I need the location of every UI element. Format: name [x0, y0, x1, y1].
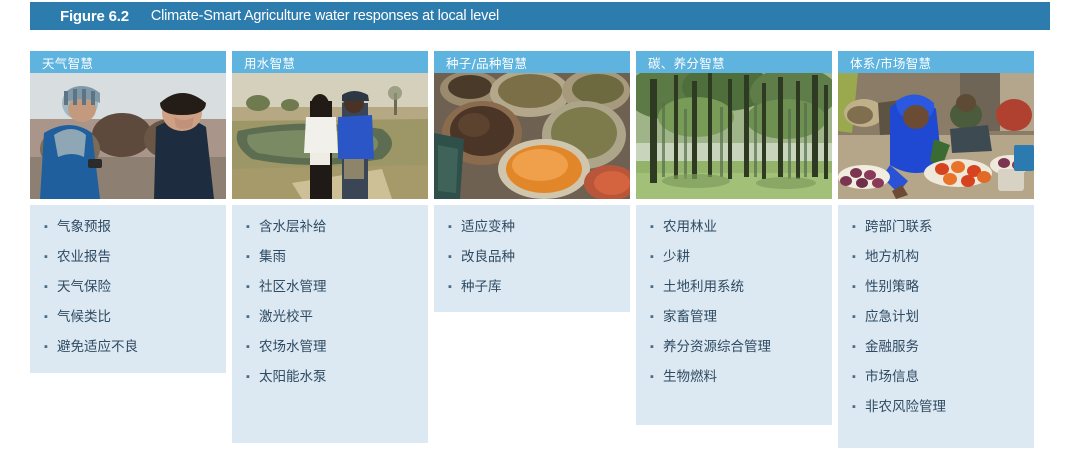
bullet-icon: ▪: [40, 219, 52, 236]
bullet-icon: ▪: [242, 249, 254, 266]
bullet-icon: ▪: [40, 339, 52, 356]
list-item: ▪ 改良品种: [444, 249, 620, 266]
column-header-water-smart: 用水智慧: [232, 51, 428, 73]
list-item-label: 跨部门联系: [860, 219, 933, 236]
bullet-icon: ▪: [40, 249, 52, 266]
list-item-label: 家畜管理: [658, 309, 717, 326]
list-item: ▪ 地方机构: [848, 249, 1024, 266]
list-seed-smart: ▪ 适应变种 ▪ 改良品种 ▪ 种子库: [434, 205, 630, 312]
bullet-icon: ▪: [848, 219, 860, 236]
list-item: ▪ 含水层补给: [242, 219, 418, 236]
list-item: ▪ 金融服务: [848, 339, 1024, 356]
list-item-label: 含水层补给: [254, 219, 327, 236]
list-item: ▪ 气候类比: [40, 309, 216, 326]
list-item-label: 气象预报: [52, 219, 111, 236]
bullet-icon: ▪: [242, 219, 254, 236]
list-item: ▪ 农场水管理: [242, 339, 418, 356]
list-item-label: 农用林业: [658, 219, 717, 236]
figure-container: Figure 6.2 Climate-Smart Agriculture wat…: [0, 0, 1080, 469]
photo-institution-market-smart: [838, 73, 1034, 199]
list-item-label: 生物燃料: [658, 369, 717, 386]
figure-number: Figure 6.2: [60, 8, 129, 25]
bullet-icon: ▪: [444, 249, 456, 266]
list-item: ▪ 种子库: [444, 279, 620, 296]
bullet-icon: ▪: [646, 219, 658, 236]
list-item: ▪ 农业报告: [40, 249, 216, 266]
list-institution-market-smart: ▪ 跨部门联系 ▪ 地方机构 ▪ 性别策略 ▪ 应急计划 ▪ 金融服务: [838, 205, 1034, 448]
figure-title-band: Figure 6.2 Climate-Smart Agriculture wat…: [30, 2, 1050, 30]
list-carbon-nutrient-smart: ▪ 农用林业 ▪ 少耕 ▪ 土地利用系统 ▪ 家畜管理 ▪ 养分资源综合管理: [636, 205, 832, 425]
column-header-seed-smart: 种子/品种智慧: [434, 51, 630, 73]
column-water-smart: 用水智慧: [232, 51, 428, 443]
list-item-label: 太阳能水泵: [254, 369, 327, 386]
list-item: ▪ 非农风险管理: [848, 399, 1024, 416]
bullet-icon: ▪: [242, 369, 254, 386]
list-item: ▪ 少耕: [646, 249, 822, 266]
list-item-label: 改良品种: [456, 249, 515, 266]
bullet-icon: ▪: [848, 309, 860, 326]
bullet-icon: ▪: [40, 309, 52, 326]
column-header-label: 体系/市场智慧: [850, 53, 931, 72]
column-header-label: 种子/品种智慧: [446, 53, 527, 72]
list-item-label: 少耕: [658, 249, 690, 266]
column-carbon-nutrient-smart: 碳、养分智慧: [636, 51, 832, 425]
list-water-smart: ▪ 含水层补给 ▪ 集雨 ▪ 社区水管理 ▪ 激光校平 ▪ 农场水管理: [232, 205, 428, 443]
figure-caption: Climate-Smart Agriculture water response…: [151, 8, 499, 24]
column-header-institution-market-smart: 体系/市场智慧: [838, 51, 1034, 73]
list-item-label: 社区水管理: [254, 279, 327, 296]
photo-seed-smart: [434, 73, 630, 199]
list-item-label: 农场水管理: [254, 339, 327, 356]
column-weather-smart: 天气智慧: [30, 51, 226, 373]
list-item-label: 市场信息: [860, 369, 919, 386]
bullet-icon: ▪: [40, 279, 52, 296]
list-item-label: 金融服务: [860, 339, 919, 356]
list-item: ▪ 集雨: [242, 249, 418, 266]
list-item: ▪ 应急计划: [848, 309, 1024, 326]
list-item-label: 性别策略: [860, 279, 919, 296]
column-header-weather-smart: 天气智慧: [30, 51, 226, 73]
list-item-label: 种子库: [456, 279, 502, 296]
list-item-label: 土地利用系统: [658, 279, 744, 296]
list-item-label: 养分资源综合管理: [658, 339, 771, 356]
list-item-label: 农业报告: [52, 249, 111, 266]
list-item: ▪ 农用林业: [646, 219, 822, 236]
list-item-label: 非农风险管理: [860, 399, 946, 416]
list-item: ▪ 激光校平: [242, 309, 418, 326]
list-item-label: 应急计划: [860, 309, 919, 326]
list-item: ▪ 气象预报: [40, 219, 216, 236]
bullet-icon: ▪: [242, 309, 254, 326]
list-item-label: 气候类比: [52, 309, 111, 326]
bullet-icon: ▪: [242, 339, 254, 356]
list-item: ▪ 家畜管理: [646, 309, 822, 326]
photo-carbon-nutrient-smart: [636, 73, 832, 199]
bullet-icon: ▪: [646, 249, 658, 266]
list-item: ▪ 市场信息: [848, 369, 1024, 386]
column-header-label: 用水智慧: [244, 53, 295, 72]
photo-weather-smart: [30, 73, 226, 199]
bullet-icon: ▪: [848, 399, 860, 416]
list-item-label: 天气保险: [52, 279, 111, 296]
bullet-icon: ▪: [646, 279, 658, 296]
list-item: ▪ 适应变种: [444, 219, 620, 236]
column-seed-smart: 种子/品种智慧: [434, 51, 630, 312]
list-item-label: 避免适应不良: [52, 339, 138, 356]
list-weather-smart: ▪ 气象预报 ▪ 农业报告 ▪ 天气保险 ▪ 气候类比 ▪ 避免适应不良: [30, 205, 226, 373]
list-item: ▪ 天气保险: [40, 279, 216, 296]
list-item-label: 激光校平: [254, 309, 313, 326]
bullet-icon: ▪: [848, 369, 860, 386]
column-header-carbon-nutrient-smart: 碳、养分智慧: [636, 51, 832, 73]
bullet-icon: ▪: [646, 339, 658, 356]
bullet-icon: ▪: [444, 279, 456, 296]
list-item: ▪ 土地利用系统: [646, 279, 822, 296]
bullet-icon: ▪: [242, 279, 254, 296]
column-header-label: 天气智慧: [42, 53, 93, 72]
list-item: ▪ 太阳能水泵: [242, 369, 418, 386]
list-item-label: 地方机构: [860, 249, 919, 266]
column-header-label: 碳、养分智慧: [648, 53, 725, 72]
bullet-icon: ▪: [444, 219, 456, 236]
list-item: ▪ 性别策略: [848, 279, 1024, 296]
list-item: ▪ 避免适应不良: [40, 339, 216, 356]
list-item: ▪ 养分资源综合管理: [646, 339, 822, 356]
photo-water-smart: [232, 73, 428, 199]
columns-container: 天气智慧: [30, 51, 1052, 448]
list-item-label: 集雨: [254, 249, 286, 266]
list-item: ▪ 跨部门联系: [848, 219, 1024, 236]
list-item-label: 适应变种: [456, 219, 515, 236]
bullet-icon: ▪: [848, 249, 860, 266]
bullet-icon: ▪: [646, 369, 658, 386]
bullet-icon: ▪: [848, 279, 860, 296]
list-item: ▪ 社区水管理: [242, 279, 418, 296]
column-institution-market-smart: 体系/市场智慧: [838, 51, 1034, 448]
bullet-icon: ▪: [848, 339, 860, 356]
bullet-icon: ▪: [646, 309, 658, 326]
list-item: ▪ 生物燃料: [646, 369, 822, 386]
